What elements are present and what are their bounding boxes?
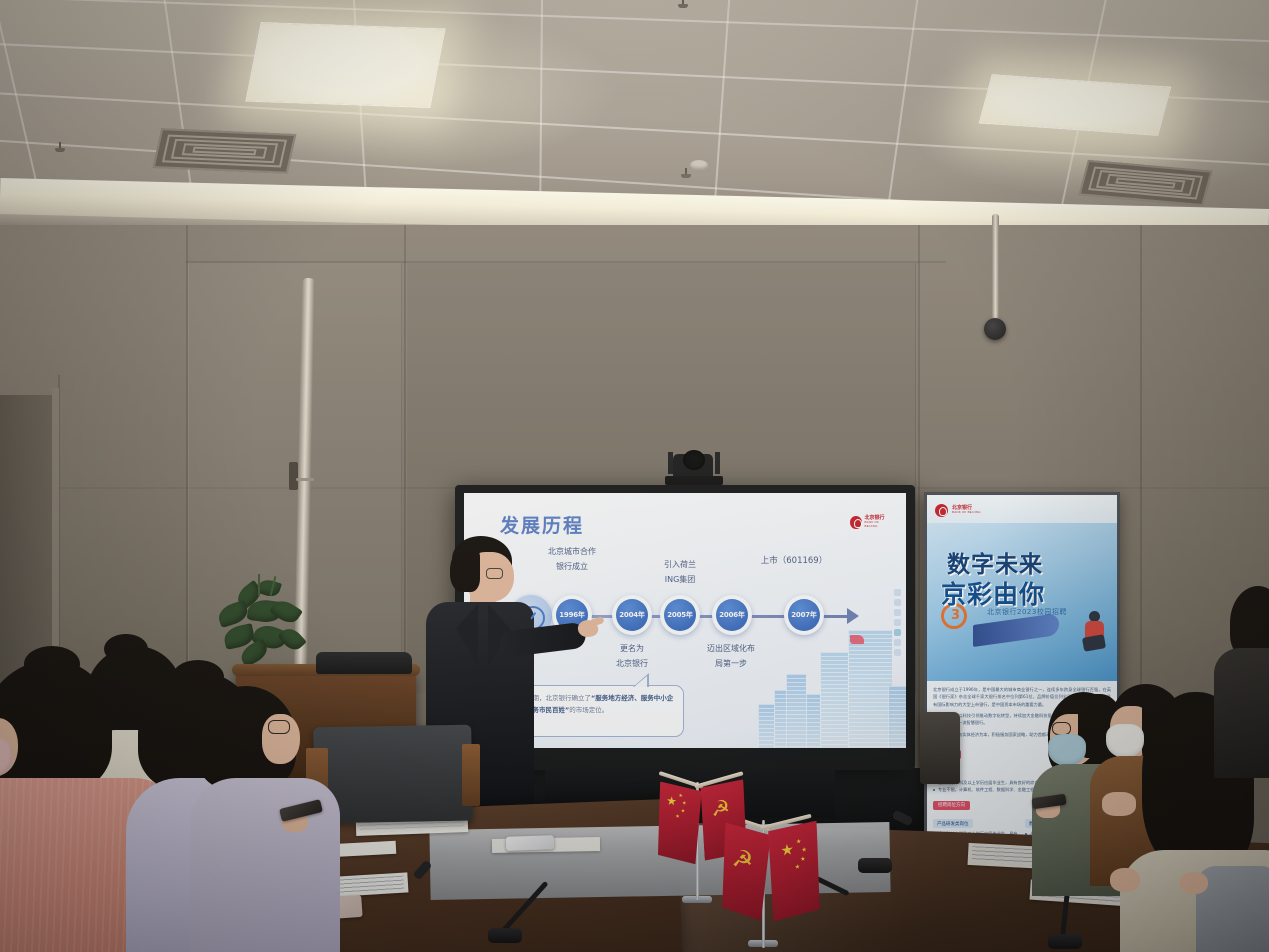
pipe-clamp — [289, 462, 298, 490]
presenter-glasses — [486, 568, 503, 579]
flag-star-small-icon: ★ — [800, 856, 806, 863]
conference-microphone[interactable] — [414, 864, 534, 952]
face-mask — [1048, 734, 1086, 766]
sprinkler-head-center — [683, 168, 689, 180]
hammer-sickle-icon: ☭ — [731, 844, 754, 875]
logo-name-en: BANK OF BEIJING — [865, 521, 890, 529]
pipe-bracket — [296, 478, 314, 481]
chair-armrest — [462, 744, 480, 806]
poster-hero: 数字未来 京彩由你 北京银行2023校园招聘 掌握方向 放飞梦想 — [927, 523, 1117, 683]
camera-mount-pole — [992, 214, 999, 326]
timeline-year-2004: 2004年 — [616, 599, 648, 631]
attendee-hand — [1180, 872, 1208, 894]
poster-section-tag-2: 招聘岗位方向 — [933, 801, 970, 810]
office-chair[interactable] — [920, 712, 960, 784]
flag-star-small-icon: ★ — [678, 794, 683, 800]
poster-logo-bar: 北京银行 BANK OF BEIJING — [927, 495, 1117, 525]
smoke-detector — [690, 160, 708, 170]
sprinkler-head-right — [680, 0, 686, 10]
flag-star-large-icon: ★ — [780, 842, 794, 859]
flag-star-large-icon: ★ — [666, 794, 677, 807]
jacket-on-podium — [316, 652, 412, 674]
timeline-year-2006: 2006年 — [716, 599, 748, 631]
ptz-conference-camera — [663, 448, 725, 488]
timeline-node-2006: 2006年 — [712, 595, 752, 635]
timeline-label-3-line1: 引入荷兰 — [641, 559, 719, 571]
beijing-skyline-illustration — [756, 618, 906, 748]
timeline-label-2-line2: 北京银行 — [593, 658, 671, 670]
national-flag: ★ ★ ★ ★ ★ — [767, 821, 823, 922]
attendee-dark-top — [1214, 648, 1269, 778]
attendee-hands — [1102, 792, 1136, 816]
poster-subline: 北京银行2023校园招聘 — [987, 607, 1067, 617]
callout-line3: 。 — [602, 706, 609, 714]
flag-star-small-icon: ★ — [680, 809, 685, 815]
timeline-label-2-line1: 更名为 — [593, 643, 671, 655]
rocket-icon — [973, 613, 1059, 647]
face-mask — [1106, 724, 1144, 758]
attendee-hair-bun — [172, 660, 224, 694]
ceiling-microphone — [984, 318, 1006, 340]
timeline-label-3-line2: ING集团 — [641, 574, 719, 586]
poster-person-illustration — [1079, 611, 1109, 651]
poster-headline-2: 京彩由你 — [941, 575, 1045, 611]
attendee-glasses — [268, 720, 290, 734]
flag-star-small-icon: ★ — [795, 864, 801, 871]
ceiling-light-panel-left — [245, 22, 445, 108]
rooftop-flag-icon — [850, 635, 864, 644]
poster-headline-1: 数字未来 — [947, 545, 1043, 579]
hvac-diffuser-left — [153, 128, 297, 174]
timeline-node-2004: 2004年 — [612, 595, 652, 635]
hammer-sickle-icon: ☭ — [710, 795, 730, 821]
smartphone[interactable] — [506, 835, 554, 851]
presenter-hair-side — [450, 548, 480, 592]
poster-logo-text: 北京银行 BANK OF BEIJING — [952, 505, 981, 515]
potted-plant — [214, 578, 314, 674]
timeline-year-2005: 2005年 — [664, 599, 696, 631]
ceiling — [0, 0, 1269, 232]
logo-text: 北京银行 BANK OF BEIJING — [865, 515, 890, 529]
desk-flag-set: ★ ★ ★ ★ ★ ☭ ☭ ★ ★ ★ ★ ★ — [648, 768, 878, 952]
conference-room-photo: 发展历程 北京银行 BANK OF BEIJING 北京城市合作 银行成立 — [0, 0, 1269, 952]
bank-of-beijing-logo: 北京银行 BANK OF BEIJING — [850, 509, 890, 535]
timeline-label-5: 上市（601169） — [744, 555, 844, 568]
attendee-hair-ponytail — [24, 646, 80, 682]
flag-star-small-icon: ★ — [796, 839, 802, 846]
camera-lens — [683, 450, 705, 470]
national-flag: ★ ★ ★ ★ ★ — [656, 781, 702, 864]
attendee-hand — [1110, 868, 1140, 892]
timeline-node-2005: 2005年 — [660, 595, 700, 635]
sprinkler-head-left — [57, 142, 63, 154]
logo-mark-icon — [850, 516, 862, 529]
slide-title: 发展历程 — [500, 511, 584, 538]
flag-star-small-icon: ★ — [675, 815, 680, 821]
poster-logo-mark-icon — [935, 504, 948, 517]
flag-star-small-icon: ★ — [801, 847, 807, 854]
attendee-hair-bun — [104, 634, 148, 664]
poster-logo-en: BANK OF BEIJING — [952, 511, 981, 515]
camera-base — [665, 476, 723, 485]
flag-star-small-icon: ★ — [682, 801, 687, 807]
